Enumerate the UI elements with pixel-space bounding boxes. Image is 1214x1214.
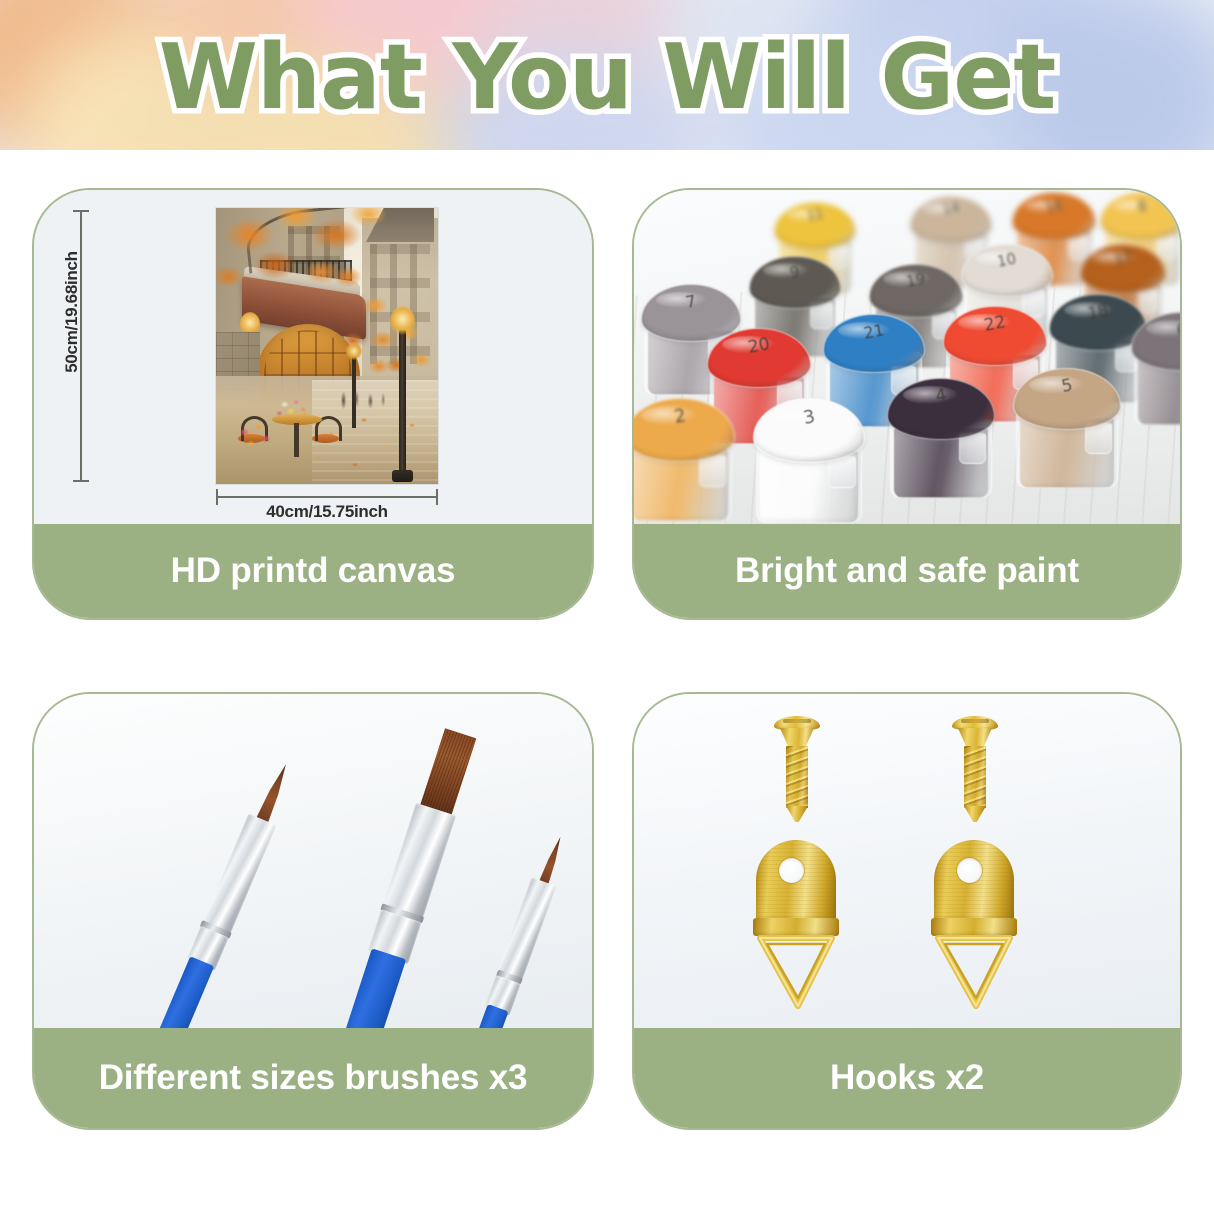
paint-pot-number: 11 [774,201,856,231]
paint-pot-lid: 4 [887,378,995,440]
card-bright-and-safe-paint[interactable]: 1114168179101918721226204523 Bright and … [632,188,1182,620]
paint-pot-number: 18 [1049,293,1146,330]
paint-pot-lid: 17 [1080,244,1167,294]
card-label-text-brushes: Different sizes brushes x3 [99,1058,528,1098]
paint-pot-lid: 5 [1013,368,1121,430]
page-title: What You Will Get [0,26,1214,130]
card-label-text-hooks: Hooks x2 [830,1058,984,1098]
paint-pot-lid: 20 [707,328,811,388]
paint-pot-number: 22 [943,304,1047,343]
paint-pot-4: 4 [890,378,992,498]
brush-round-liner [145,759,298,1032]
paint-pot-lid: 10 [961,244,1052,297]
card-different-sizes-brushes[interactable]: Different sizes brushes x3 [32,692,594,1130]
header-divider [0,150,1214,152]
screw-left [774,716,820,822]
paint-pot-number: 4 [887,376,995,416]
hook-hardware-group [634,694,1180,1032]
card-label-band-brushes: Different sizes brushes x3 [34,1028,592,1128]
brush-group [34,694,592,1032]
paint-pot-number: 14 [910,195,992,225]
paint-pot-lid: 14 [910,196,993,244]
width-dimension-line [216,496,438,498]
paint-pot-3: 3 [756,398,862,523]
screw-right [952,716,998,822]
paint-pot-number: 5 [1013,366,1121,406]
paint-pot-number: 3 [753,396,865,438]
canvas-dimension-diagram: 50cm/19.68inch 40cm/15.75inch [34,190,592,528]
paint-photo: 1114168179101918721226204523 [634,190,1180,528]
paint-pot-lid: 11 [774,202,857,250]
card-label-text-paint: Bright and safe paint [735,551,1079,591]
hook-screw-hole [957,858,982,883]
card-label-band-canvas: HD printd canvas [34,524,592,618]
header-banner: What You Will Get [0,0,1214,152]
paint-pot-lid: 16 [1012,192,1097,241]
paint-pot-number: 21 [823,312,925,350]
paint-pot-lid: 9 [749,256,840,309]
paint-pot-number: 2 [634,396,735,437]
d-ring-hook-right [930,840,1018,1018]
hook-screw-hole [779,858,804,883]
paint-pot-5: 5 [1016,368,1118,488]
paint-pot-lid: 8 [1100,192,1180,241]
d-ring-hook-left [752,840,840,1018]
bottom-spacer [0,1186,1214,1214]
card-label-band-paint: Bright and safe paint [634,524,1180,618]
card-hd-printed-canvas[interactable]: 50cm/19.68inch 40cm/15.75inch HD printd … [32,188,594,620]
paint-pot-lid: 21 [823,314,925,373]
canvas-artwork-preview [216,208,438,484]
hooks-photo [634,694,1180,1032]
paint-pot-number: 20 [707,326,811,365]
paint-pot-number: 17 [1080,243,1166,275]
brushes-photo [34,694,592,1032]
card-hooks[interactable]: Hooks x2 [632,692,1182,1130]
paint-pot-2: 2 [634,398,732,521]
paint-pot-number: 9 [750,255,841,290]
paint-pot-number: 8 [1100,191,1180,223]
paint-pot-6: 6 [1134,312,1180,425]
triangle-ring-icon [932,932,1016,1014]
card-label-band-hooks: Hooks x2 [634,1028,1180,1128]
what-you-will-get-infographic: What You Will Get [0,0,1214,1214]
paint-pot-number: 19 [869,263,962,298]
canvas-photo: 50cm/19.68inch 40cm/15.75inch [34,190,592,528]
triangle-ring-icon [754,932,838,1014]
paint-pot-lid: 3 [753,398,865,463]
width-dimension-label: 40cm/15.75inch [176,502,478,522]
paint-pot-lid: 2 [634,398,735,462]
brush-fine-detail [467,833,571,1032]
height-dimension-label: 50cm/19.68inch [62,212,82,412]
paint-pot-number: 7 [641,283,740,320]
paint-pot-array: 1114168179101918721226204523 [634,190,1180,528]
paint-pot-number: 10 [962,243,1053,278]
card-label-text-canvas: HD printd canvas [171,551,456,591]
brush-flat-wide [335,728,478,1032]
paint-pot-number: 16 [1012,191,1096,223]
paint-pot-number: 6 [1131,310,1180,348]
paint-pot-lid: 22 [943,306,1047,366]
